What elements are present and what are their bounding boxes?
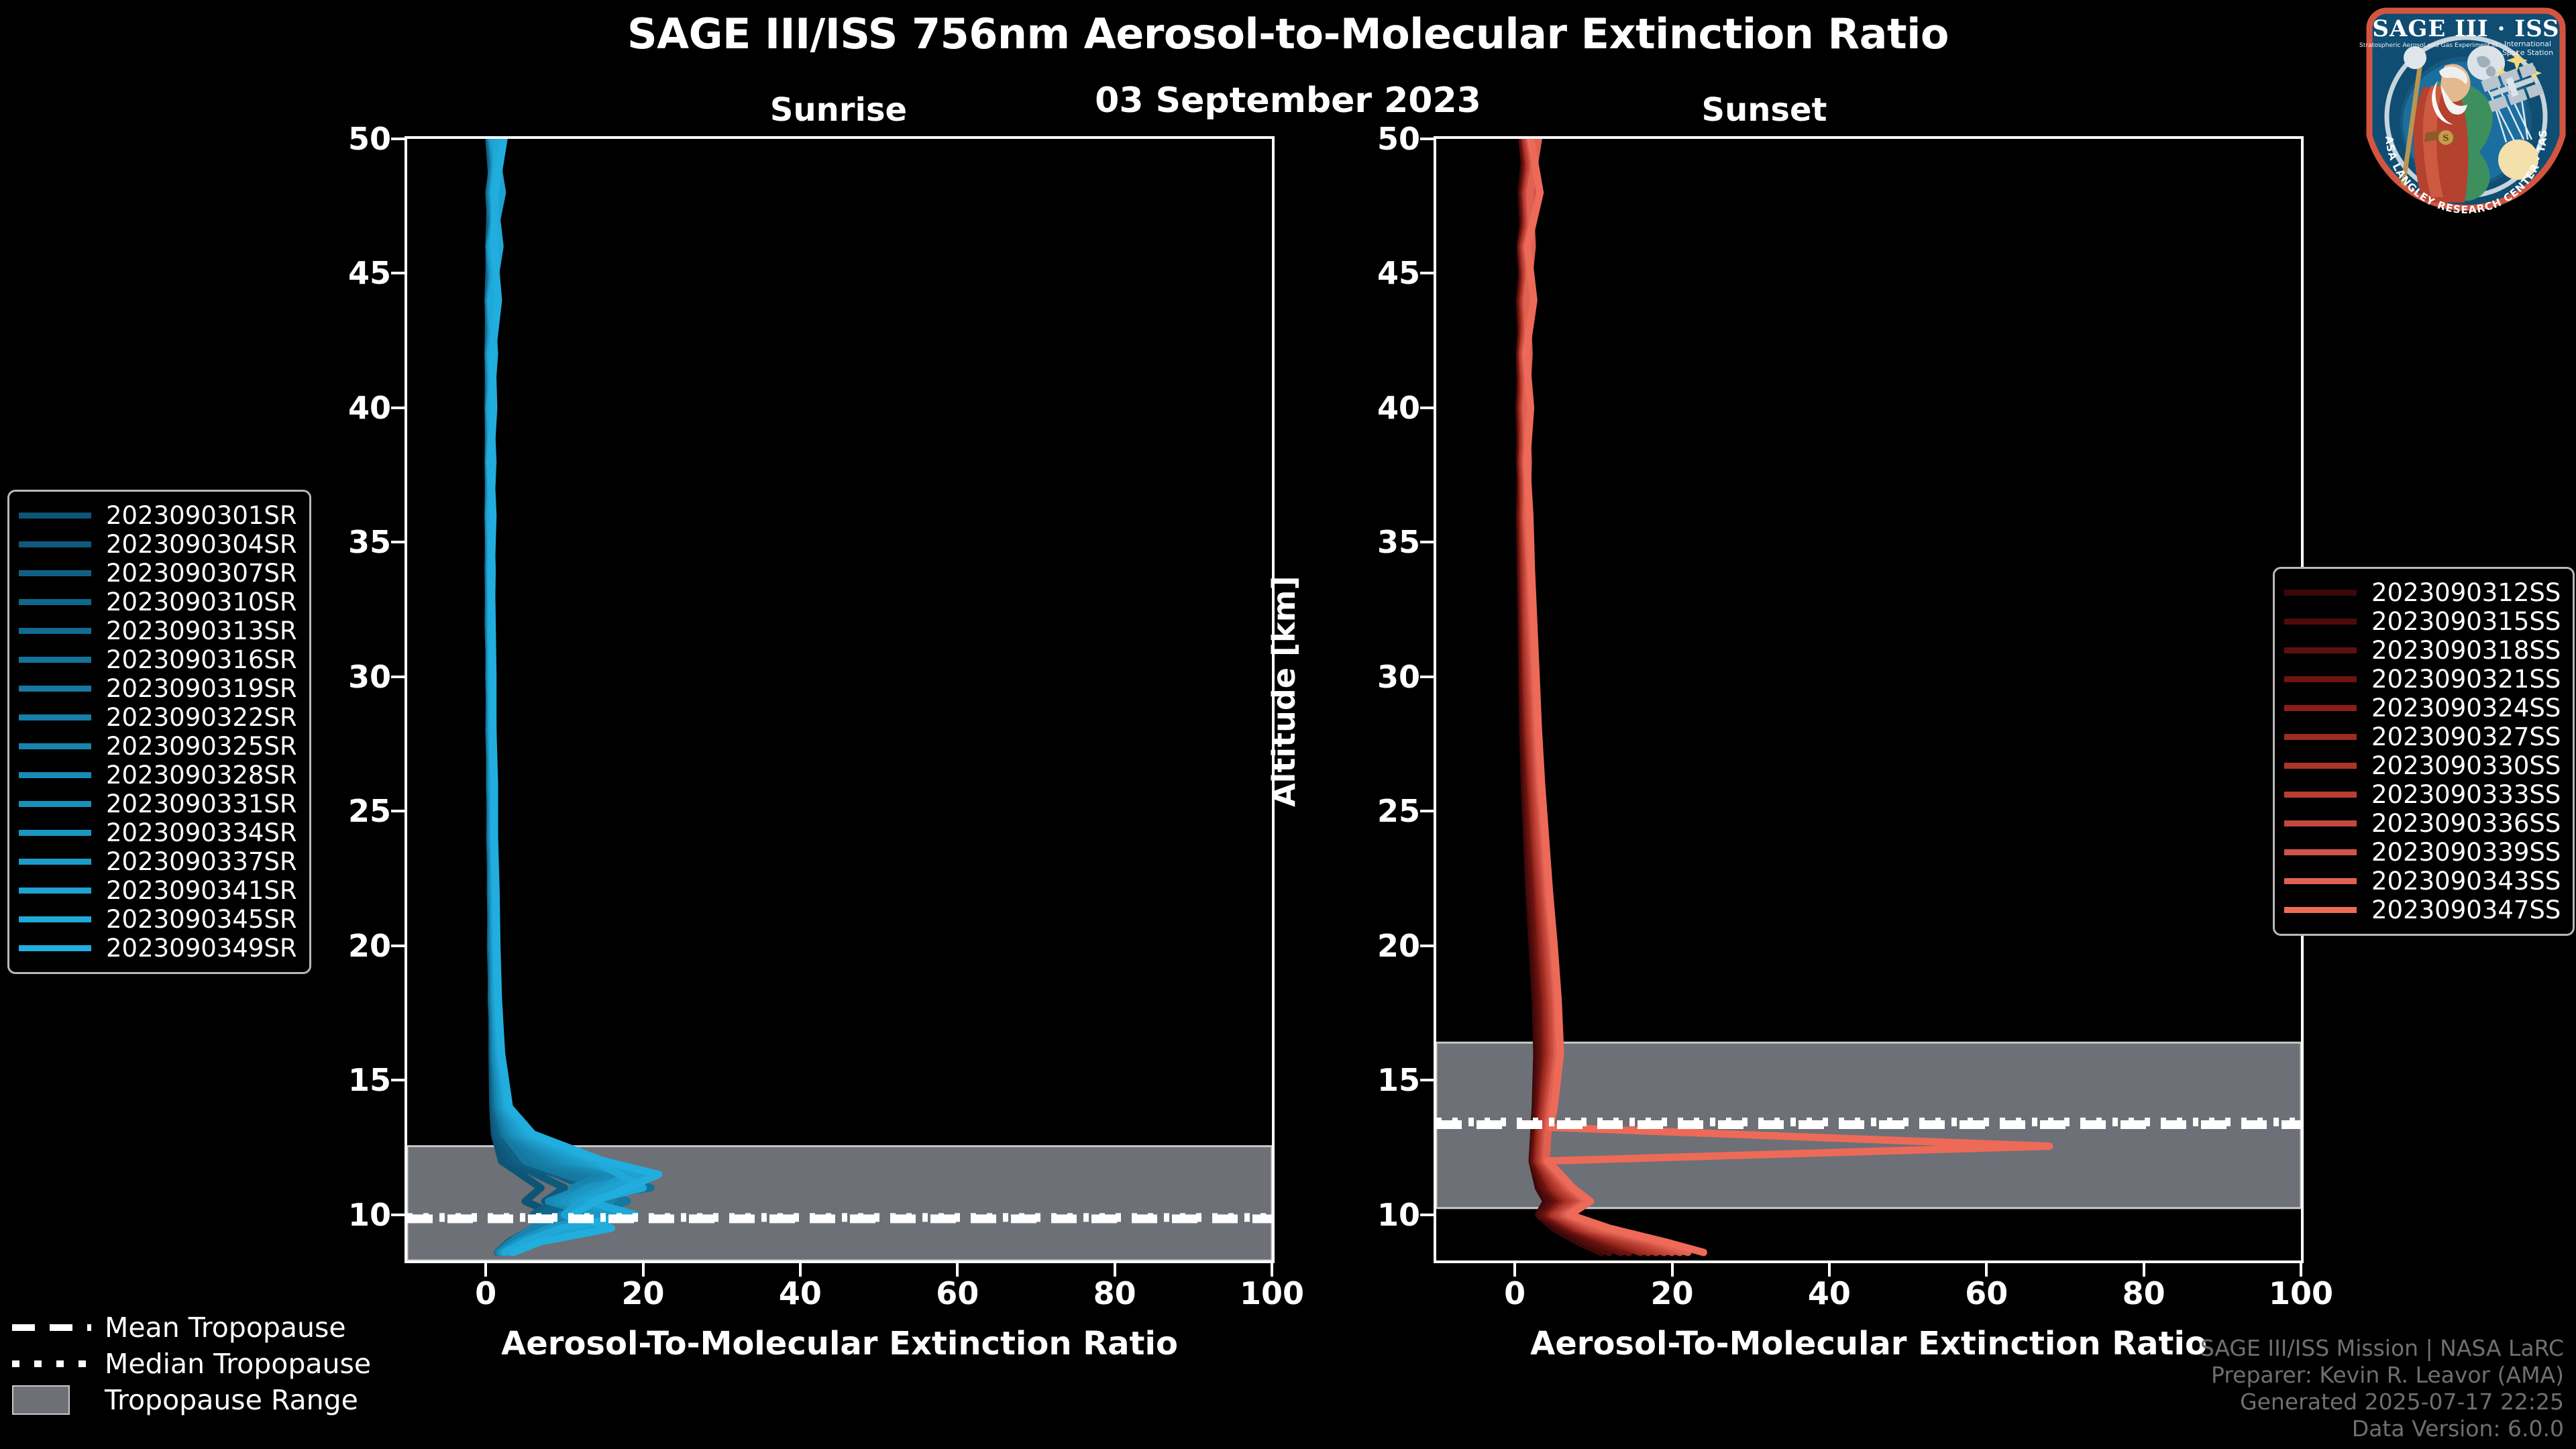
legend-sunrise-item[interactable]: 2023090322SR <box>19 703 297 732</box>
legend-item-label: 2023090330SS <box>2371 751 2561 780</box>
legend-item-label: 2023090336SS <box>2371 809 2561 838</box>
data-series-line <box>490 139 643 1252</box>
legend-sunset-item[interactable]: 2023090330SS <box>2284 751 2561 780</box>
y-axis-tick-mark <box>391 407 405 409</box>
x-axis-tick-label: 60 <box>936 1275 979 1311</box>
legend-item-label: 2023090328SR <box>106 761 297 790</box>
tropopause-key-label: Mean Tropopause <box>105 1311 346 1344</box>
x-axis-tick-label: 100 <box>2269 1275 2333 1311</box>
legend-item-label: 2023090337SR <box>106 847 297 876</box>
legend-sunset-item[interactable]: 2023090315SS <box>2284 607 2561 636</box>
legend-item-label: 2023090324SS <box>2371 694 2561 722</box>
x-axis-label: Aerosol-To-Molecular Extinction Ratio <box>405 1325 1275 1362</box>
legend-item-label: 2023090315SS <box>2371 607 2561 636</box>
y-axis-tick-mark <box>391 810 405 812</box>
x-axis-tick-mark <box>642 1263 645 1277</box>
legend-sunset-item[interactable]: 2023090324SS <box>2284 694 2561 722</box>
legend-item-label: 2023090343SS <box>2371 867 2561 896</box>
legend-color-swatch <box>2284 647 2357 653</box>
legend-sunrise-item[interactable]: 2023090349SR <box>19 934 297 963</box>
legend-color-swatch <box>19 772 91 778</box>
legend-sunset-item[interactable]: 2023090343SS <box>2284 867 2561 896</box>
legend-item-label: 2023090321SS <box>2371 665 2561 694</box>
x-axis-tick-label: 60 <box>1965 1275 2008 1311</box>
y-axis-tick-mark <box>1420 541 1434 543</box>
y-axis-tick-label: 50 <box>290 121 403 157</box>
y-axis-label: Altitude [km] <box>1266 576 1302 807</box>
y-axis-tick-label: 45 <box>1320 255 1432 291</box>
y-axis-tick-label: 15 <box>1320 1062 1432 1098</box>
y-axis-tick-mark <box>391 1079 405 1081</box>
y-axis-tick-mark <box>391 676 405 678</box>
legend-sunrise-item[interactable]: 2023090304SR <box>19 530 297 559</box>
legend-color-swatch <box>19 628 91 634</box>
x-axis-tick-label: 80 <box>1093 1275 1136 1311</box>
legend-color-swatch <box>19 541 91 547</box>
legend-item-label: 2023090307SR <box>106 559 297 588</box>
x-axis-tick-mark <box>1513 1263 1516 1277</box>
credits-block: SAGE III/ISS Mission | NASA LaRC Prepare… <box>2200 1335 2564 1442</box>
x-axis-tick-mark <box>2143 1263 2145 1277</box>
legend-color-swatch <box>19 686 91 692</box>
legend-color-swatch <box>2284 590 2357 596</box>
plot-panel-sunset <box>1434 136 2304 1263</box>
legend-item-label: 2023090347SS <box>2371 896 2561 924</box>
legend-sunrise[interactable]: 2023090301SR2023090304SR2023090307SR2023… <box>7 490 311 974</box>
legend-item-label: 2023090345SR <box>106 905 297 934</box>
legend-item-label: 2023090322SR <box>106 703 297 732</box>
legend-item-label: 2023090331SR <box>106 790 297 818</box>
legend-color-swatch <box>19 801 91 807</box>
dashed-line-icon <box>12 1319 91 1336</box>
x-axis-tick-label: 0 <box>475 1275 496 1311</box>
y-axis-tick-label: 45 <box>290 255 403 291</box>
legend-sunset-item[interactable]: 2023090327SS <box>2284 722 2561 751</box>
x-axis-tick-label: 100 <box>1240 1275 1304 1311</box>
legend-sunrise-item[interactable]: 2023090341SR <box>19 876 297 905</box>
y-axis-tick-label: 10 <box>1320 1197 1432 1233</box>
y-axis-tick-label: 30 <box>1320 659 1432 695</box>
x-axis-tick-label: 40 <box>1808 1275 1851 1311</box>
y-axis-tick-label: 50 <box>1320 121 1432 157</box>
y-axis-tick-mark <box>391 945 405 947</box>
legend-sunset-item[interactable]: 2023090336SS <box>2284 809 2561 838</box>
x-axis-tick-mark <box>1985 1263 1988 1277</box>
legend-item-label: 2023090319SR <box>106 674 297 703</box>
x-axis-tick-mark <box>956 1263 959 1277</box>
legend-color-swatch <box>19 859 91 865</box>
data-series-line <box>489 139 635 1252</box>
legend-item-label: 2023090327SS <box>2371 722 2561 751</box>
legend-item-label: 2023090316SR <box>106 645 297 674</box>
credit-line: Data Version: 6.0.0 <box>2200 1415 2564 1442</box>
legend-color-swatch <box>19 599 91 605</box>
y-axis-tick-mark <box>1420 676 1434 678</box>
legend-item-label: 2023090312SS <box>2371 578 2561 607</box>
tropopause-key-item-mean: Mean Tropopause <box>12 1309 371 1346</box>
tropopause-key: Mean Tropopause Median Tropopause Tropop… <box>12 1309 371 1418</box>
x-axis-tick-label: 40 <box>779 1275 822 1311</box>
x-axis-tick-label: 20 <box>622 1275 665 1311</box>
tropopause-key-label: Median Tropopause <box>105 1348 371 1380</box>
legend-sunrise-item[interactable]: 2023090310SR <box>19 588 297 616</box>
legend-color-swatch <box>2284 849 2357 855</box>
legend-item-label: 2023090333SS <box>2371 780 2561 809</box>
data-series-line <box>490 139 651 1252</box>
legend-sunset-item[interactable]: 2023090318SS <box>2284 636 2561 665</box>
legend-color-swatch <box>19 714 91 720</box>
x-axis-tick-mark <box>1828 1263 1831 1277</box>
legend-color-swatch <box>19 888 91 894</box>
legend-sunrise-item[interactable]: 2023090331SR <box>19 790 297 818</box>
credit-line: Generated 2025-07-17 22:25 <box>2200 1389 2564 1415</box>
x-axis-label: Aerosol-To-Molecular Extinction Ratio <box>1434 1325 2304 1362</box>
tropopause-key-label: Tropopause Range <box>105 1384 358 1416</box>
legend-sunset-item[interactable]: 2023090339SS <box>2284 838 2561 867</box>
legend-item-label: 2023090339SS <box>2371 838 2561 867</box>
data-series-line <box>490 139 659 1252</box>
y-axis-tick-mark <box>1420 1214 1434 1216</box>
legend-color-swatch <box>2284 878 2357 884</box>
plot-area-sunrise <box>407 139 1272 1260</box>
legend-sunrise-item[interactable]: 2023090337SR <box>19 847 297 876</box>
y-axis-tick-mark <box>1420 945 1434 947</box>
legend-sunrise-item[interactable]: 2023090334SR <box>19 818 297 847</box>
y-axis-tick-label: 10 <box>290 1197 403 1233</box>
legend-color-swatch <box>19 657 91 663</box>
legend-sunrise-item[interactable]: 2023090325SR <box>19 732 297 761</box>
legend-sunrise-item[interactable]: 2023090328SR <box>19 761 297 790</box>
y-axis-tick-label: 15 <box>290 1062 403 1098</box>
legend-item-label: 2023090310SR <box>106 588 297 616</box>
legend-sunset-item[interactable]: 2023090333SS <box>2284 780 2561 809</box>
legend-item-label: 2023090341SR <box>106 876 297 905</box>
patch-title: SAGE III · ISS <box>2372 15 2559 42</box>
y-axis-tick-label: 25 <box>1320 793 1432 829</box>
legend-sunrise-item[interactable]: 2023090345SR <box>19 905 297 934</box>
legend-color-swatch <box>2284 792 2357 798</box>
legend-sunset-item[interactable]: 2023090312SS <box>2284 578 2561 607</box>
y-axis-tick-label: 20 <box>1320 928 1432 964</box>
y-axis-tick-label: 40 <box>1320 390 1432 426</box>
legend-item-label: 2023090318SS <box>2371 636 2561 665</box>
legend-color-swatch <box>2284 763 2357 769</box>
page-title: SAGE III/ISS 756nm Aerosol-to-Molecular … <box>0 9 2576 58</box>
y-axis-tick-label: 35 <box>1320 524 1432 560</box>
legend-item-label: 2023090334SR <box>106 818 297 847</box>
legend-color-swatch <box>19 513 91 519</box>
y-axis-tick-mark <box>391 1214 405 1216</box>
data-series-line <box>488 139 651 1252</box>
legend-color-swatch <box>2284 619 2357 625</box>
date-subtitle: 03 September 2023 <box>0 80 2576 121</box>
patch-subtitle-right-1: International <box>2504 40 2551 48</box>
panel-label-sunset: Sunset <box>1664 91 1865 129</box>
tropopause-key-item-range: Tropopause Range <box>12 1382 371 1418</box>
legend-color-swatch <box>2284 705 2357 711</box>
legend-sunrise-item[interactable]: 2023090319SR <box>19 674 297 703</box>
legend-sunrise-item[interactable]: 2023090313SR <box>19 616 297 645</box>
x-axis-tick-label: 80 <box>2123 1275 2165 1311</box>
x-axis-tick-mark <box>799 1263 802 1277</box>
legend-item-label: 2023090304SR <box>106 530 297 559</box>
y-axis-tick-mark <box>1420 138 1434 140</box>
dotted-line-icon <box>12 1355 91 1373</box>
panel-label-sunrise: Sunrise <box>738 91 939 129</box>
legend-item-label: 2023090325SR <box>106 732 297 761</box>
x-axis-tick-mark <box>1271 1263 1273 1277</box>
y-axis-tick-mark <box>1420 272 1434 274</box>
legend-color-swatch <box>2284 820 2357 826</box>
legend-item-label: 2023090349SR <box>106 934 297 963</box>
x-axis-tick-mark <box>1671 1263 1674 1277</box>
legend-color-swatch <box>2284 734 2357 740</box>
x-axis-tick-label: 20 <box>1651 1275 1694 1311</box>
legend-sunrise-item[interactable]: 2023090316SR <box>19 645 297 674</box>
sage-iii-iss-mission-patch-logo: S SAGE III · ISS Stratospheric Aerosol a… <box>2359 1 2572 215</box>
legend-sunset-item[interactable]: 2023090347SS <box>2284 896 2561 924</box>
legend-color-swatch <box>19 945 91 951</box>
legend-sunrise-item[interactable]: 2023090301SR <box>19 501 297 530</box>
legend-color-swatch <box>19 916 91 922</box>
x-axis-tick-mark <box>1114 1263 1116 1277</box>
data-series-line <box>490 139 643 1252</box>
y-axis-tick-mark <box>1420 810 1434 812</box>
legend-item-label: 2023090313SR <box>106 616 297 645</box>
y-axis-tick-mark <box>391 272 405 274</box>
y-axis-tick-mark <box>1420 407 1434 409</box>
legend-color-swatch <box>2284 907 2357 913</box>
y-axis-tick-label: 40 <box>290 390 403 426</box>
x-axis-tick-label: 0 <box>1504 1275 1525 1311</box>
data-series-line <box>490 139 627 1252</box>
legend-color-swatch <box>19 570 91 576</box>
legend-item-label: 2023090301SR <box>106 501 297 530</box>
svg-text:S: S <box>2443 133 2449 144</box>
patch-subtitle-left: Stratospheric Aerosol and Gas Experiment… <box>2359 42 2498 49</box>
credit-line: Preparer: Kevin R. Leavor (AMA) <box>2200 1362 2564 1389</box>
y-axis-tick-mark <box>391 138 405 140</box>
data-series-line <box>488 139 643 1252</box>
x-axis-tick-mark <box>484 1263 487 1277</box>
legend-sunrise-item[interactable]: 2023090307SR <box>19 559 297 588</box>
gray-band-swatch-icon <box>12 1391 91 1409</box>
legend-sunset-item[interactable]: 2023090321SS <box>2284 665 2561 694</box>
y-axis-tick-mark <box>1420 1079 1434 1081</box>
legend-color-swatch <box>19 830 91 836</box>
legend-sunset[interactable]: 2023090312SS2023090315SS2023090318SS2023… <box>2273 567 2575 936</box>
credit-line: SAGE III/ISS Mission | NASA LaRC <box>2200 1335 2564 1362</box>
y-axis-tick-mark <box>391 541 405 543</box>
x-axis-tick-mark <box>2300 1263 2302 1277</box>
plot-area-sunset <box>1436 139 2301 1260</box>
legend-color-swatch <box>19 743 91 749</box>
patch-subtitle-right-2: Space Station <box>2502 48 2553 57</box>
plot-panel-sunrise <box>405 136 1275 1263</box>
legend-color-swatch <box>2284 676 2357 682</box>
tropopause-key-item-median: Median Tropopause <box>12 1346 371 1382</box>
